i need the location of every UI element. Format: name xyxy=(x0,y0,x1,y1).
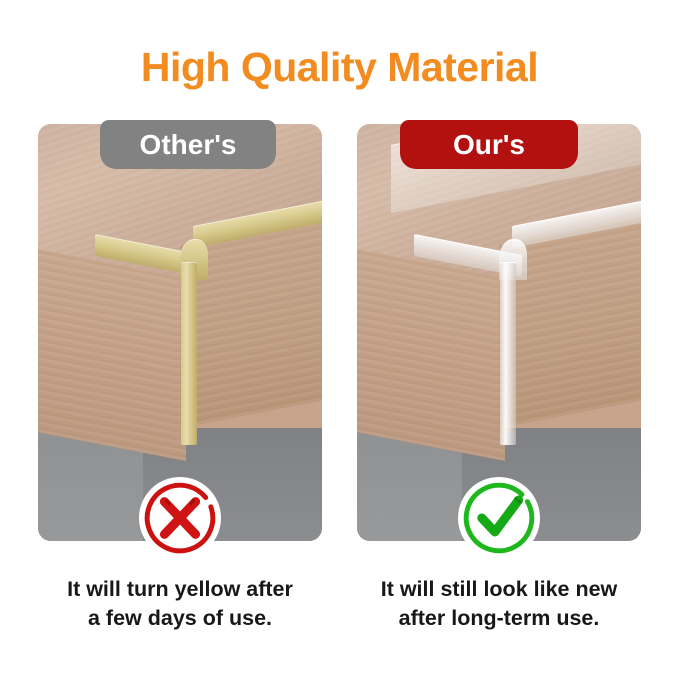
product-comparison-image: High Quality Material xyxy=(0,0,679,679)
caption-ours: It will still look like new after long-t… xyxy=(339,575,659,632)
page-title: High Quality Material xyxy=(0,47,679,88)
caption-ours-line1: It will still look like new xyxy=(381,577,618,601)
edge-guard-corner-post xyxy=(500,262,515,445)
badge-ours: Our's xyxy=(400,120,578,169)
caption-other-line2: a few days of use. xyxy=(20,604,340,633)
caption-ours-line2: after long-term use. xyxy=(339,604,659,633)
caption-other: It will turn yellow after a few days of … xyxy=(20,575,340,632)
caption-other-line1: It will turn yellow after xyxy=(67,577,293,601)
table-left-face xyxy=(38,246,186,461)
table-left-face xyxy=(357,246,505,461)
edge-guard-corner-post xyxy=(181,262,196,445)
badge-other: Other's xyxy=(100,120,276,169)
check-icon xyxy=(458,477,540,559)
cross-icon xyxy=(139,477,221,559)
